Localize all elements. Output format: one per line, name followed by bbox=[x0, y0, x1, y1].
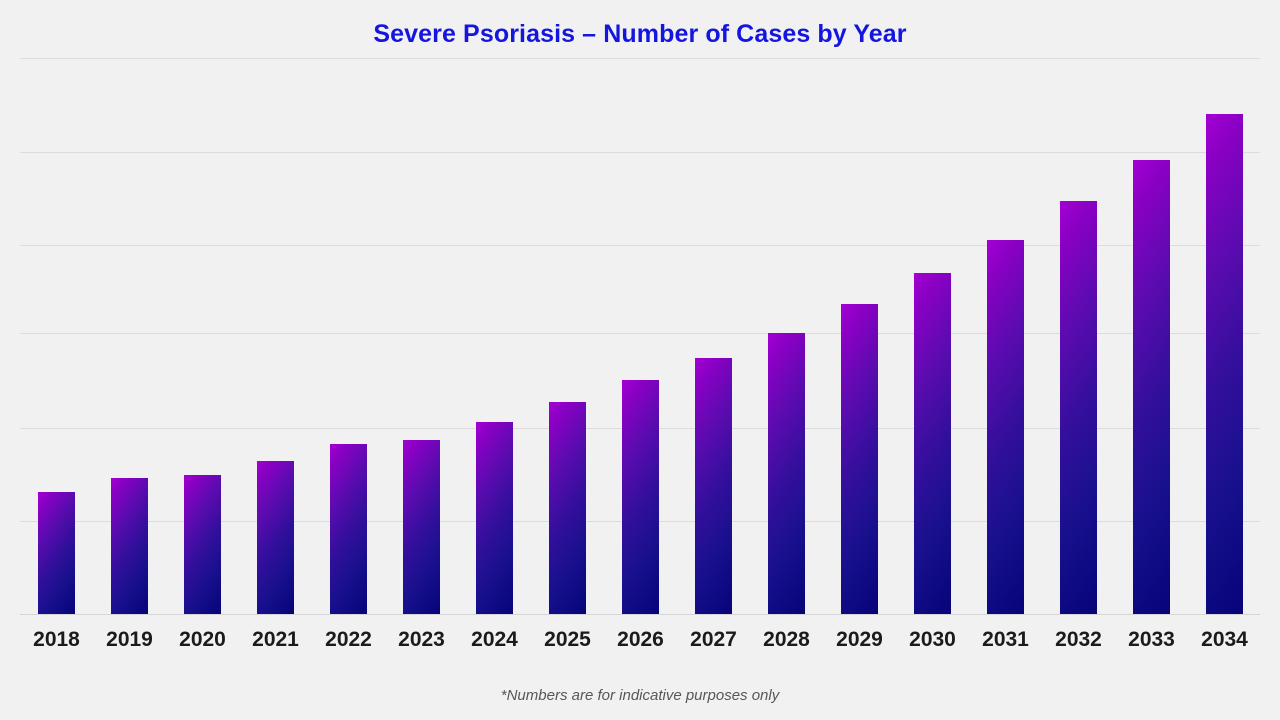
bar-slot bbox=[896, 57, 969, 614]
bar-slot bbox=[458, 57, 531, 614]
x-axis-tick-label: 2026 bbox=[604, 628, 677, 652]
bar-slot bbox=[750, 57, 823, 614]
bar-slot bbox=[166, 57, 239, 614]
x-axis-tick-label: 2029 bbox=[823, 628, 896, 652]
bar[interactable] bbox=[184, 475, 221, 614]
chart-page: Severe Psoriasis – Number of Cases by Ye… bbox=[0, 0, 1280, 720]
chart-title: Severe Psoriasis – Number of Cases by Ye… bbox=[0, 20, 1280, 49]
chart-footnote: *Numbers are for indicative purposes onl… bbox=[0, 687, 1280, 704]
bar[interactable] bbox=[695, 358, 732, 614]
bar[interactable] bbox=[987, 240, 1024, 614]
x-axis-tick-label: 2031 bbox=[969, 628, 1042, 652]
bar[interactable] bbox=[38, 492, 75, 614]
x-axis-tick-label: 2034 bbox=[1188, 628, 1261, 652]
x-axis-tick-label: 2022 bbox=[312, 628, 385, 652]
x-axis-tick-label: 2018 bbox=[20, 628, 93, 652]
bar-slot bbox=[677, 57, 750, 614]
bar-series bbox=[20, 58, 1260, 615]
bar[interactable] bbox=[1060, 201, 1097, 614]
x-axis-tick-label: 2024 bbox=[458, 628, 531, 652]
bar[interactable] bbox=[1133, 160, 1170, 614]
bar-slot bbox=[823, 57, 896, 614]
plot-area bbox=[20, 58, 1260, 615]
bar-slot bbox=[604, 57, 677, 614]
bar[interactable] bbox=[476, 422, 513, 614]
bar-slot bbox=[969, 57, 1042, 614]
bar[interactable] bbox=[549, 402, 586, 614]
bar[interactable] bbox=[841, 304, 878, 614]
bar[interactable] bbox=[111, 478, 148, 614]
bar[interactable] bbox=[257, 461, 294, 614]
bar[interactable] bbox=[914, 273, 951, 614]
x-axis-tick-label: 2023 bbox=[385, 628, 458, 652]
x-axis-tick-label: 2033 bbox=[1115, 628, 1188, 652]
bar[interactable] bbox=[1206, 114, 1243, 614]
bar-slot bbox=[93, 57, 166, 614]
bar-slot bbox=[239, 57, 312, 614]
bar-slot bbox=[312, 57, 385, 614]
bar[interactable] bbox=[768, 333, 805, 614]
bar[interactable] bbox=[330, 444, 367, 614]
bar-slot bbox=[531, 57, 604, 614]
bar[interactable] bbox=[403, 440, 440, 614]
x-axis-tick-label: 2027 bbox=[677, 628, 750, 652]
bar-slot bbox=[20, 57, 93, 614]
bar[interactable] bbox=[622, 380, 659, 614]
x-axis-tick-label: 2019 bbox=[93, 628, 166, 652]
x-axis-tick-label: 2020 bbox=[166, 628, 239, 652]
bar-slot bbox=[1115, 57, 1188, 614]
bar-slot bbox=[1188, 57, 1261, 614]
x-axis-tick-label: 2025 bbox=[531, 628, 604, 652]
x-axis-labels: 2018201920202021202220232024202520262027… bbox=[20, 628, 1260, 660]
bar-slot bbox=[385, 57, 458, 614]
x-axis-tick-label: 2028 bbox=[750, 628, 823, 652]
x-axis-tick-label: 2032 bbox=[1042, 628, 1115, 652]
bar-slot bbox=[1042, 57, 1115, 614]
x-axis-tick-label: 2021 bbox=[239, 628, 312, 652]
x-axis-tick-label: 2030 bbox=[896, 628, 969, 652]
